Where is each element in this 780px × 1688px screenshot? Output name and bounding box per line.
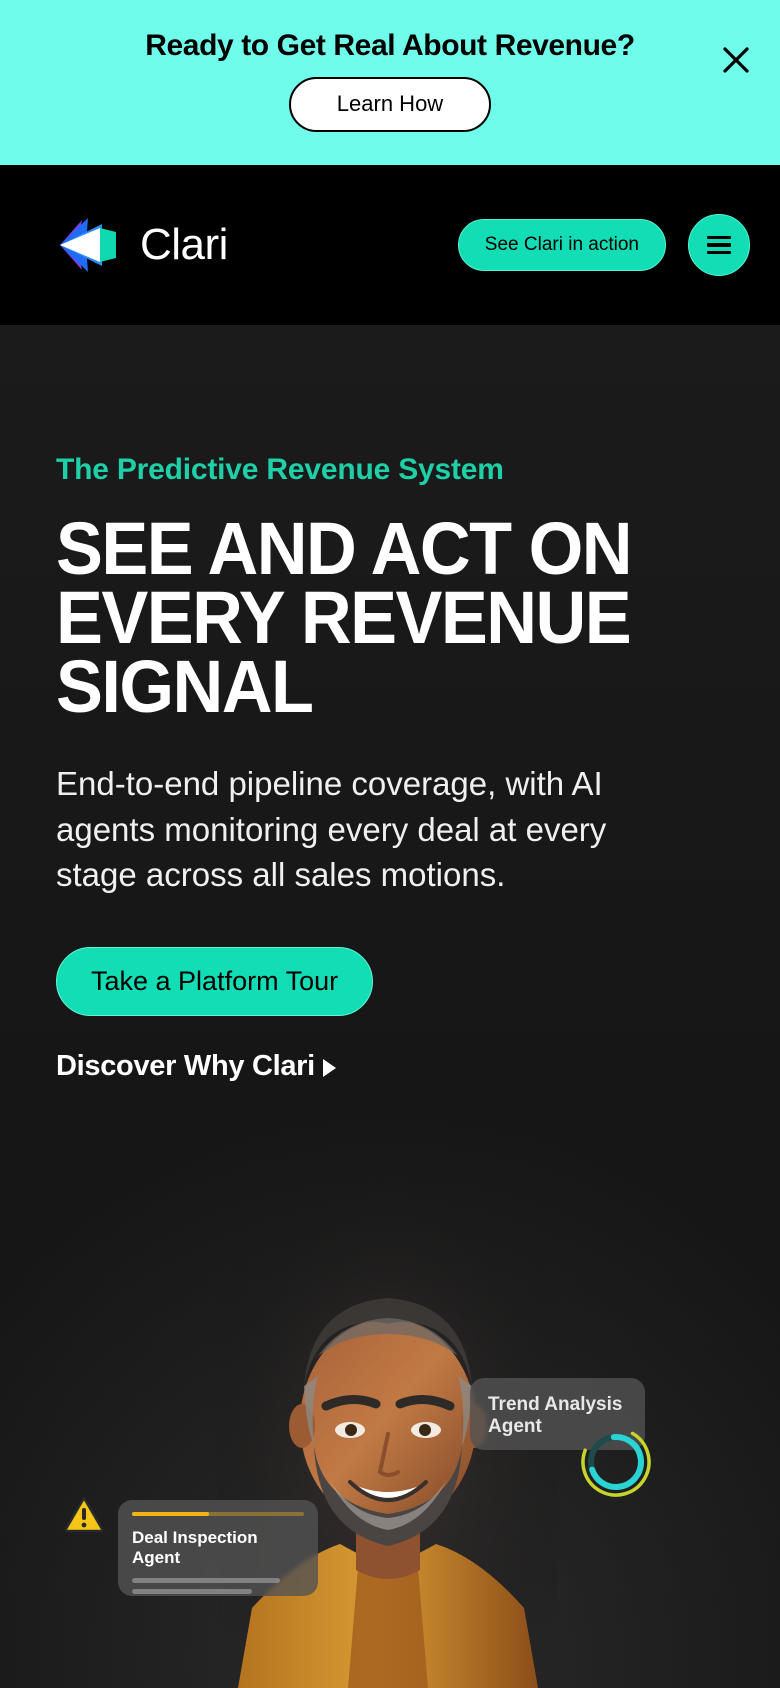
brand-home-link[interactable]: Clari [56, 214, 228, 276]
deal-progress-track [132, 1512, 304, 1516]
deal-inspection-agent-card[interactable]: Deal Inspection Agent [118, 1500, 318, 1596]
discover-why-clari-link[interactable]: Discover Why Clari [56, 1050, 336, 1083]
nav-actions: See Clari in action [458, 214, 750, 276]
top-navigation-bar: Clari See Clari in action [0, 165, 780, 325]
deal-progress-fill [132, 1512, 209, 1516]
close-icon[interactable] [714, 38, 758, 82]
circular-gauge-icon [578, 1424, 654, 1500]
hero-subcopy: End-to-end pipeline coverage, with AI ag… [56, 761, 686, 897]
play-triangle-icon [323, 1059, 336, 1077]
warning-triangle-icon [64, 1496, 104, 1532]
placeholder-line [132, 1578, 280, 1583]
hero-visual-stage [0, 1168, 780, 1688]
deal-inspection-agent-title: Deal Inspection Agent [132, 1528, 304, 1568]
hero-eyebrow: The Predictive Revenue System [56, 453, 724, 487]
hamburger-menu-icon[interactable] [688, 214, 750, 276]
brand-name: Clari [140, 223, 228, 267]
promo-learn-how-button[interactable]: Learn How [289, 77, 491, 131]
take-a-platform-tour-button[interactable]: Take a Platform Tour [56, 947, 373, 1016]
hero-section: The Predictive Revenue System SEE AND AC… [0, 325, 780, 1688]
page-title: SEE AND ACT ON EVERY REVENUE SIGNAL [56, 515, 691, 721]
promo-banner: Ready to Get Real About Revenue? Learn H… [0, 0, 780, 165]
promo-title: Ready to Get Real About Revenue? [145, 29, 635, 63]
discover-why-clari-label: Discover Why Clari [56, 1050, 315, 1083]
clari-fan-logo-icon [56, 214, 126, 276]
placeholder-line [132, 1589, 252, 1594]
page-root: Ready to Get Real About Revenue? Learn H… [0, 0, 780, 1688]
see-clari-in-action-button[interactable]: See Clari in action [458, 219, 666, 271]
